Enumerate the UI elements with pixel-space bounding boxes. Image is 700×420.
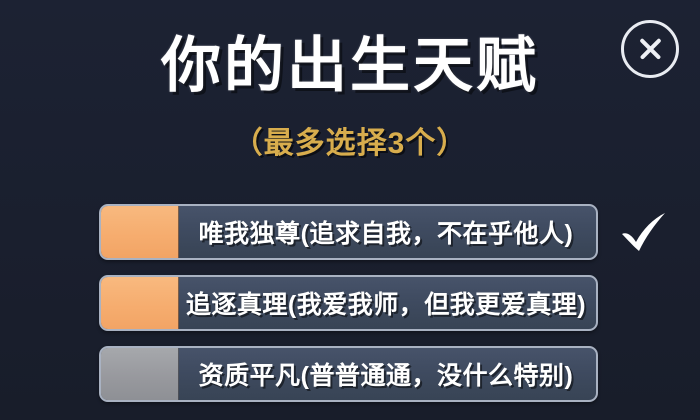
- talent-selection-dialog: 你的出生天赋 （最多选择3个） 唯我独尊(追求自我，不在乎他人) 追逐真理(我爱…: [0, 0, 700, 420]
- list-item-label: 追逐真理(我爱我师，但我更爱真理): [180, 277, 596, 329]
- rarity-badge: [101, 206, 179, 258]
- list-item[interactable]: 追逐真理(我爱我师，但我更爱真理): [99, 275, 598, 331]
- list-item[interactable]: 唯我独尊(追求自我，不在乎他人): [99, 204, 598, 260]
- list-item-label: 资质平凡(普普通通，没什么特别): [180, 348, 596, 400]
- rarity-badge: [101, 277, 179, 329]
- list-item[interactable]: 资质平凡(普普通通，没什么特别): [99, 346, 598, 402]
- rarity-badge: [101, 348, 179, 400]
- check-icon: [615, 205, 671, 261]
- selection-limit-hint: （最多选择3个）: [0, 124, 700, 164]
- list-item-label: 唯我独尊(追求自我，不在乎他人): [180, 206, 596, 258]
- talent-option-list: 唯我独尊(追求自我，不在乎他人) 追逐真理(我爱我师，但我更爱真理) 资质平凡(…: [99, 204, 598, 417]
- page-title: 你的出生天赋: [0, 30, 700, 102]
